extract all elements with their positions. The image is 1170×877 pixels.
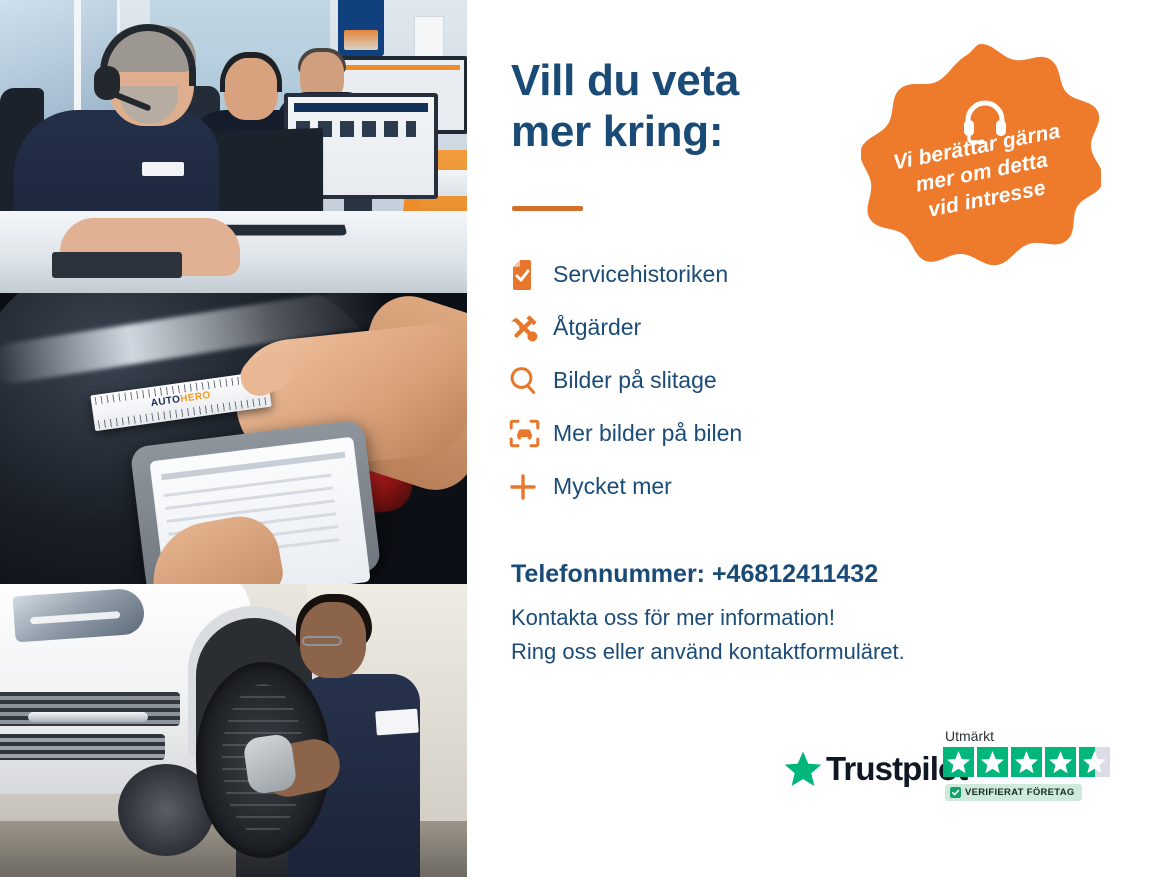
check-badge-icon (950, 787, 961, 798)
trustpilot-logo: Trustpilot (783, 750, 967, 788)
photo3-headlight (13, 588, 146, 643)
magnifier-icon (509, 366, 553, 395)
photo-column: AUTOHERO (0, 0, 467, 877)
photo1-blue-banner (338, 0, 384, 56)
photo1-tablet (52, 252, 182, 278)
feature-item-mer-bilder-pa-bilen: Mer bilder på bilen (509, 407, 949, 460)
feature-label: Åtgärder (553, 314, 641, 341)
star-2-filled (977, 747, 1008, 777)
car-scan-icon (509, 419, 553, 448)
star-4-filled (1045, 747, 1076, 777)
photo3-lower-grille-2 (0, 734, 165, 760)
star-1-filled (943, 747, 974, 777)
feature-label: Servicehistoriken (553, 261, 728, 288)
trustpilot-rating: Utmärkt (943, 728, 1110, 803)
call-center-agents-photo (0, 0, 467, 293)
verified-company-badge: VERIFIERAT FÖRETAG (945, 784, 1082, 801)
feature-label: Bilder på slitage (553, 367, 717, 394)
feature-label: Mycket mer (553, 473, 672, 500)
verified-company-label: VERIFIERAT FÖRETAG (965, 787, 1075, 798)
feature-item-mycket-mer: Mycket mer (509, 460, 949, 513)
photo1-wall-poster (414, 16, 444, 58)
feature-item-bilder-pa-slitage: Bilder på slitage (509, 354, 949, 407)
feature-item-atgarder: Åtgärder (509, 301, 949, 354)
star-3-filled (1011, 747, 1042, 777)
tyre-change-workshop-photo (0, 584, 467, 877)
contact-text-line-1: Kontakta oss för mer information! (511, 605, 835, 631)
photo3-chrome-trim (28, 712, 148, 722)
promo-page: AUTOHERO (0, 0, 1170, 877)
plus-icon (509, 473, 553, 501)
feature-label: Mer bilder på bilen (553, 420, 742, 447)
title-divider (512, 206, 583, 211)
trustpilot-star-rating (943, 747, 1110, 777)
wrench-screwdriver-icon (509, 313, 553, 343)
content-panel: Vill du vetamer kring: Servicehistoriken (467, 0, 1170, 877)
contact-text-line-2: Ring oss eller använd kontaktformuläret. (511, 639, 905, 665)
phone-number-line: Telefonnummer: +46812411432 (511, 560, 878, 589)
page-title-line-1: Vill du veta (511, 56, 739, 105)
car-inspection-ruler-photo: AUTOHERO (0, 293, 467, 584)
trustpilot-rating-label: Utmärkt (945, 728, 1110, 744)
callout-badge: Vi berättar gärna mer om detta vid intre… (861, 42, 1101, 290)
photo1-agent1-name-badge (142, 162, 184, 176)
trustpilot-widget[interactable]: Trustpilot Utmärkt (783, 728, 1143, 818)
photo3-mechanic-badge (375, 709, 419, 736)
photo3-mechanic-glove (242, 733, 297, 795)
page-title: Vill du vetamer kring: (511, 55, 841, 158)
page-title-line-2: mer kring: (511, 107, 723, 156)
document-check-icon (509, 260, 553, 290)
photo3-mechanic-glasses (302, 636, 342, 646)
trustpilot-star-icon (783, 750, 823, 788)
star-5-half (1079, 747, 1110, 777)
